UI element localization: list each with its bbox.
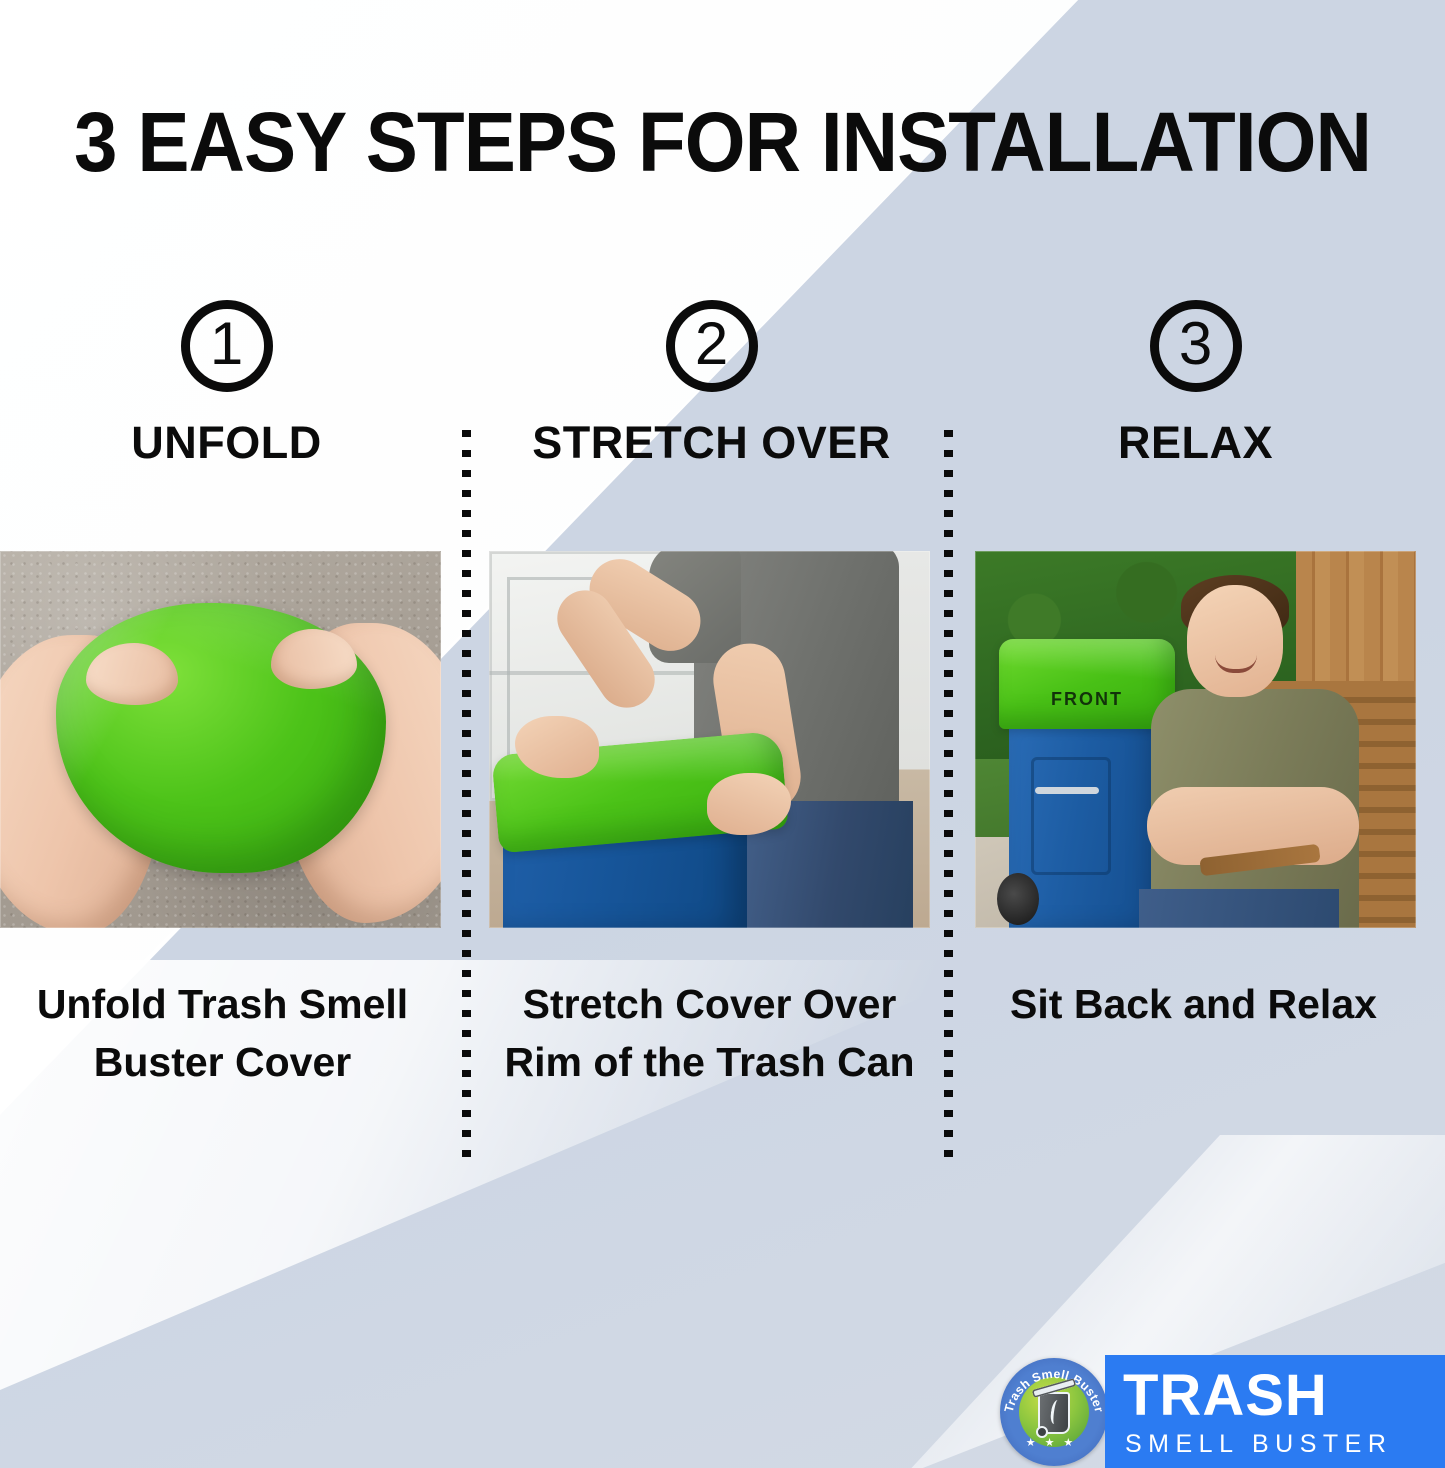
cover-front-label: FRONT	[999, 689, 1175, 710]
step-photo-2	[489, 551, 930, 928]
step-number-circle-3: 3	[1150, 300, 1242, 392]
infographic-canvas: 3 EASY STEPS FOR INSTALLATION 1 UNFOLD 2…	[0, 0, 1445, 1468]
step-caption-3: Sit Back and Relax	[971, 975, 1416, 1033]
step-label-1: UNFOLD	[4, 418, 449, 468]
step-caption-1: Unfold Trash Smell Buster Cover	[0, 975, 445, 1091]
step-number-circle-1: 1	[181, 300, 273, 392]
trash-can-handle	[1035, 787, 1099, 794]
step-number-2: 2	[695, 314, 728, 374]
step-number-1: 1	[210, 314, 243, 374]
step-caption-2: Stretch Cover Over Rim of the Trash Can	[487, 975, 932, 1091]
page-title: 3 EASY STEPS FOR INSTALLATION	[51, 96, 1395, 188]
relaxed-person-jeans	[1139, 889, 1339, 928]
green-cover-installed	[999, 639, 1175, 729]
brand-badge-icon: Trash Smell Buster ★★★	[1000, 1358, 1108, 1466]
step-header-1: 1 UNFOLD	[4, 300, 449, 468]
brand-name-box: TRASH SMELL BUSTER	[1105, 1355, 1445, 1468]
column-divider-2	[944, 430, 953, 1167]
trash-can-panel	[1031, 757, 1111, 875]
trash-can-wheel	[997, 873, 1039, 925]
step-number-3: 3	[1179, 314, 1212, 374]
step-number-circle-2: 2	[666, 300, 758, 392]
step-header-3: 3 RELAX	[973, 300, 1418, 468]
step-label-2: STRETCH OVER	[489, 418, 934, 468]
step-photo-1	[0, 551, 441, 928]
step-photo-3: FRONT	[975, 551, 1416, 928]
badge-stars: ★★★	[1000, 1436, 1108, 1449]
brand-logo: Trash Smell Buster ★★★ TRASH SMELL BUSTE…	[1000, 1355, 1445, 1468]
step-label-3: RELAX	[973, 418, 1418, 468]
brand-secondary-text: SMELL BUSTER	[1125, 1431, 1437, 1457]
step-header-2: 2 STRETCH OVER	[489, 300, 934, 468]
relaxed-person-head	[1187, 585, 1283, 697]
column-divider-1	[462, 430, 471, 1167]
brand-primary-text: TRASH	[1123, 1367, 1435, 1425]
